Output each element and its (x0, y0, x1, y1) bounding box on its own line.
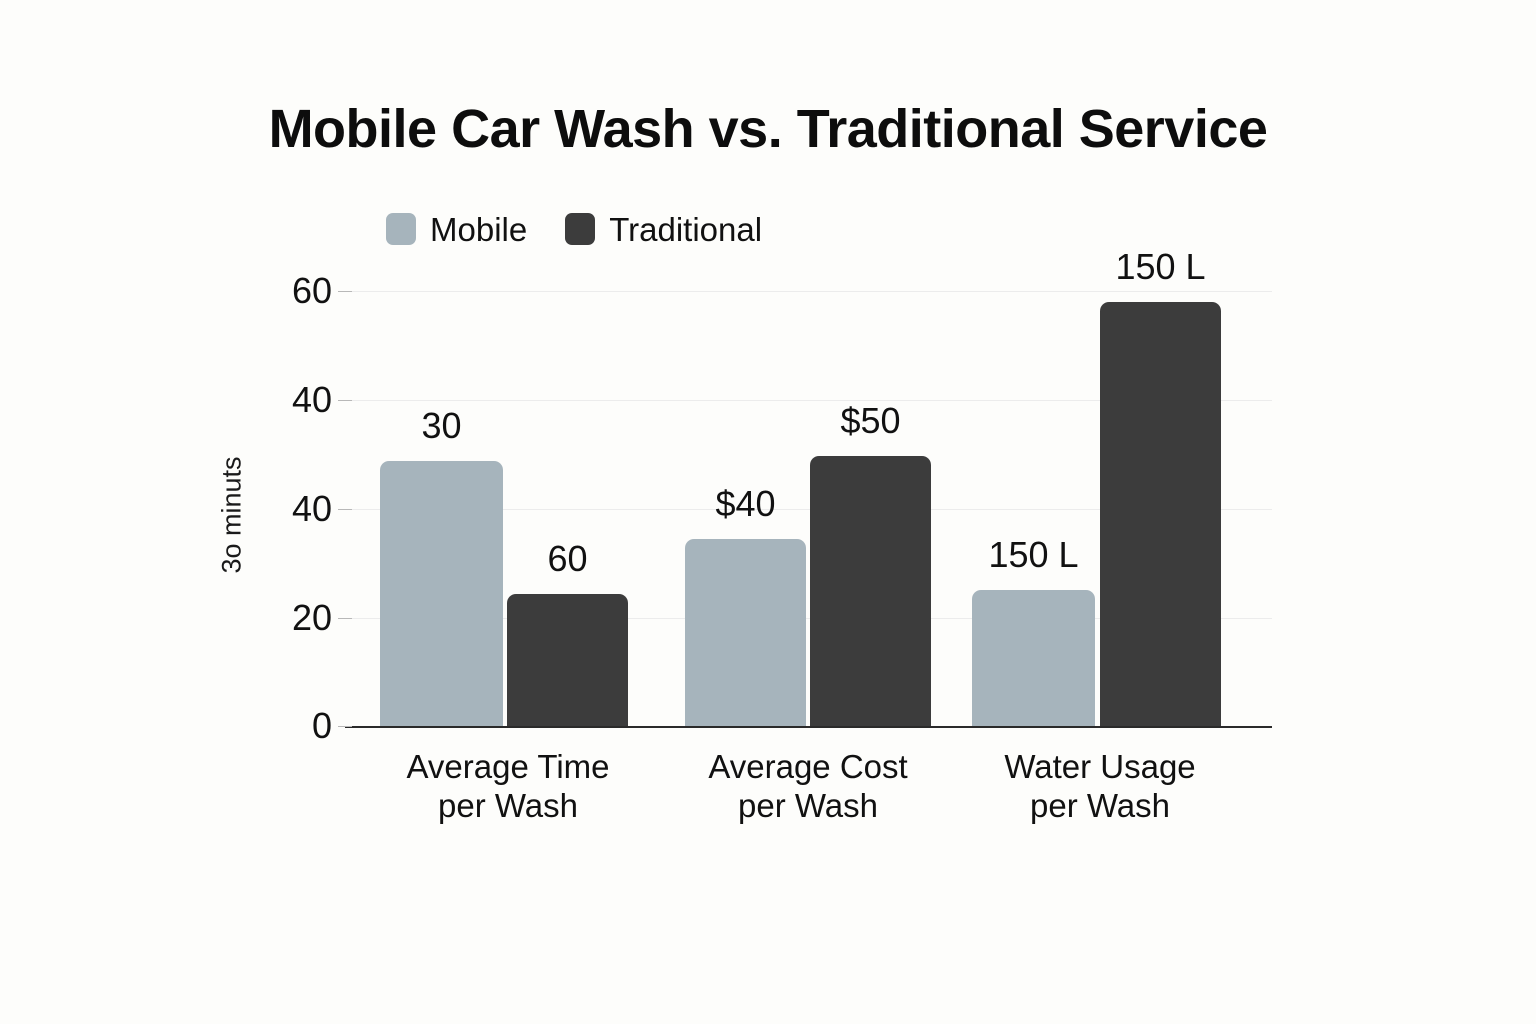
bar-traditional-2[interactable] (810, 456, 931, 726)
bar-value-label-mobile-1: 30 (360, 408, 523, 444)
plot-area: 3060$40$50150 L150 L (345, 291, 1272, 726)
x-category-label-2: Water Usage per Wash (905, 748, 1295, 826)
y-axis-title: 3o minuts (217, 456, 248, 573)
bar-mobile-3[interactable] (972, 590, 1095, 726)
x-axis-baseline (345, 726, 1272, 728)
bar-value-label-mobile-2: $40 (665, 486, 826, 522)
legend-label-traditional: Traditional (609, 213, 762, 246)
y-tick-label-3: 20 (212, 600, 332, 636)
bar-chart: Mobile Car Wash vs. Traditional Service … (0, 0, 1536, 1024)
legend-swatch-mobile (386, 213, 416, 245)
bar-mobile-2[interactable] (685, 539, 806, 726)
y-tick-mark-4 (338, 726, 352, 727)
legend-label-mobile: Mobile (430, 213, 527, 246)
bar-value-label-traditional-1: 60 (487, 541, 648, 577)
y-tick-label-0: 60 (212, 273, 332, 309)
y-tick-mark-3 (338, 618, 352, 619)
bar-value-label-mobile-3: 150 L (952, 537, 1115, 573)
bar-value-label-traditional-2: $50 (790, 403, 951, 439)
bar-traditional-3[interactable] (1100, 302, 1221, 726)
bar-value-label-traditional-3: 150 L (1080, 249, 1241, 285)
y-tick-mark-0 (338, 291, 352, 292)
legend-item-mobile[interactable]: Mobile (386, 213, 527, 246)
legend-swatch-traditional (565, 213, 595, 245)
chart-title: Mobile Car Wash vs. Traditional Service (0, 98, 1536, 160)
gridline-0 (345, 291, 1272, 292)
y-tick-label-1: 40 (212, 382, 332, 418)
legend-item-traditional[interactable]: Traditional (565, 213, 762, 246)
bar-traditional-1[interactable] (507, 594, 628, 726)
chart-legend: Mobile Traditional (386, 210, 762, 248)
y-tick-label-4: 0 (212, 708, 332, 744)
y-tick-mark-2 (338, 509, 352, 510)
bar-mobile-1[interactable] (380, 461, 503, 726)
y-tick-mark-1 (338, 400, 352, 401)
